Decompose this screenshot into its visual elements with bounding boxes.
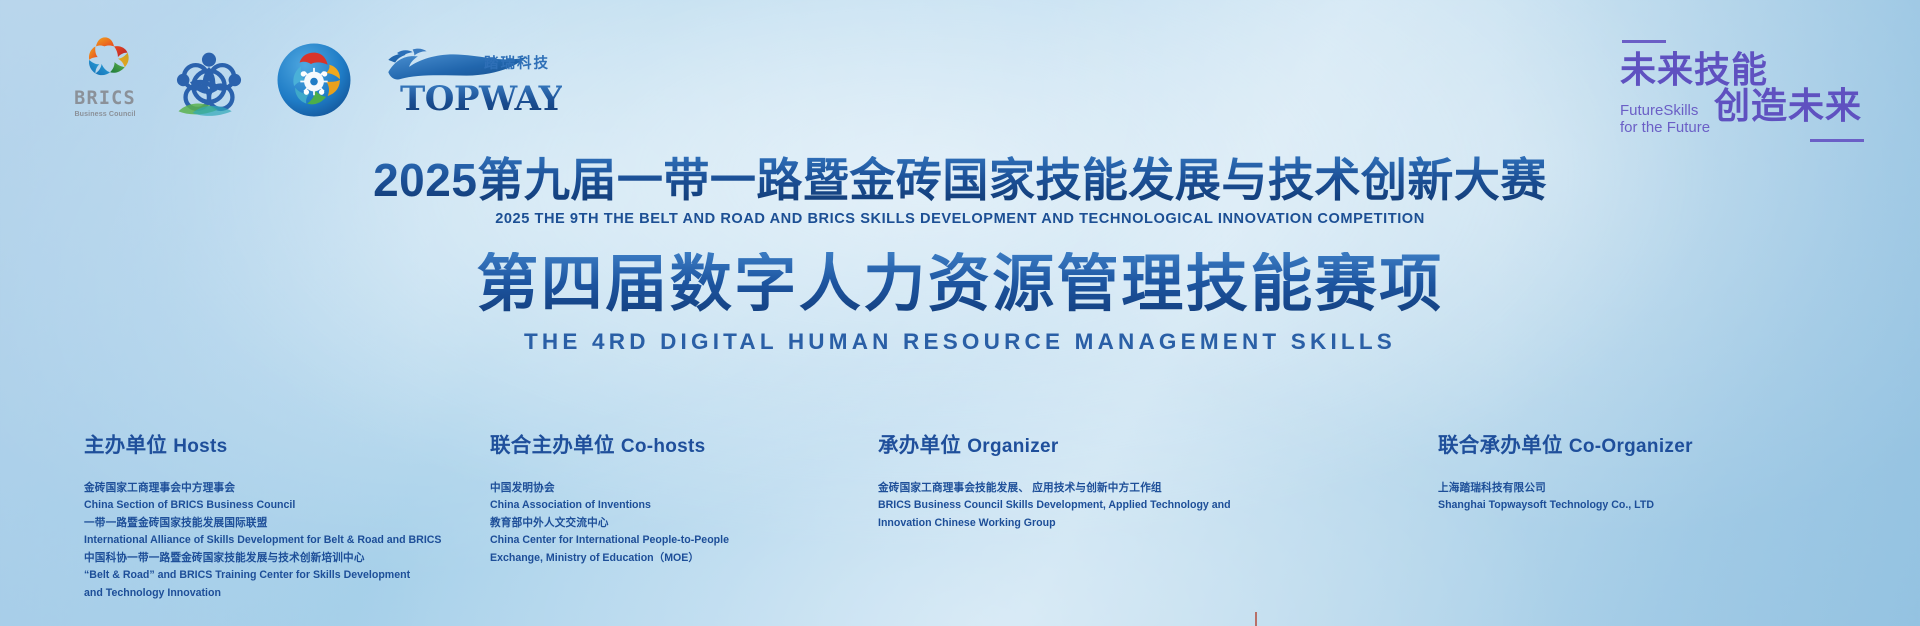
brics-wordmark: BRICS [74,90,136,109]
logo-cast [276,42,352,118]
future-skills-cn-line1: 未来技能 [1620,52,1768,88]
org-line: 金砖国家工商理事会技能发展、 应用技术与创新中方工作组 [878,480,1420,497]
organizer-column-cohosts: 联合主办单位 Co-hosts 中国发明协会 China Association… [490,428,878,602]
org-line: 上海踏瑞科技有限公司 [1438,480,1840,497]
heading-en: Hosts [173,436,227,457]
bottom-tick-mark [1255,612,1257,626]
topway-wordmark: TOPWAY [400,82,562,116]
organizer-columns: 主办单位 Hosts 金砖国家工商理事会中方理事会 China Section … [0,428,1920,602]
logo-brics-business-council: BRICS Business Council [68,34,142,118]
column-heading: 承办单位 Organizer [878,428,1420,458]
heading-cn: 主办单位 [84,434,167,457]
column-heading: 主办单位 Hosts [84,428,472,458]
organizer-column-coorganizer: 联合承办单位 Co-Organizer 上海踏瑞科技有限公司 Shanghai … [1438,428,1858,602]
column-heading: 联合主办单位 Co-hosts [490,428,860,458]
competition-headline: 2025第九届一带一路暨金砖国家技能发展与技术创新大赛 2025 THE 9TH… [0,156,1920,227]
poster-canvas: BRICS Business Council [0,0,1920,626]
subtitle-en: THE 4RD DIGITAL HUMAN RESOURCE MANAGEMEN… [0,329,1920,355]
org-line: International Alliance of Skills Develop… [84,532,472,549]
organizer-column-hosts: 主办单位 Hosts 金砖国家工商理事会中方理事会 China Section … [0,428,490,602]
future-skills-cn-line2: 创造未来 [1714,88,1862,124]
logo-topway: 踏瑞科技 TOPWAY [382,48,550,118]
org-line: 中国科协一带一路暨金砖国家技能发展与技术创新培训中心 [84,550,472,567]
competition-subtitle: 第四届数字人力资源管理技能赛项 THE 4RD DIGITAL HUMAN RE… [0,252,1920,355]
heading-en: Co-hosts [621,436,706,457]
heading-cn: 联合主办单位 [490,434,615,457]
org-line: 中国发明协会 [490,480,860,497]
org-line: China Association of Inventions [490,497,860,514]
skills-alliance-flower-icon [166,42,252,118]
future-skills-en-line2: for the Future [1620,119,1710,136]
heading-cn: 联合承办单位 [1438,434,1563,457]
org-line: Shanghai Topwaysoft Technology Co., LTD [1438,497,1840,514]
subtitle-cn: 第四届数字人力资源管理技能赛项 [0,252,1920,319]
org-line: Exchange, Ministry of Education（MOE） [490,550,860,567]
heading-en: Organizer [967,436,1058,457]
org-line: 金砖国家工商理事会中方理事会 [84,480,472,497]
future-skills-en-line1: FutureSkills [1620,102,1710,119]
org-line: and Technology Innovation [84,585,472,602]
partner-logo-row: BRICS Business Council [68,34,550,118]
topway-cn-label: 踏瑞科技 [484,52,550,73]
heading-cn: 承办单位 [878,434,961,457]
org-line: China Section of BRICS Business Council [84,497,472,514]
future-skills-en: FutureSkills for the Future [1620,102,1710,137]
brics-star-icon [76,34,134,88]
brics-subtext: Business Council [74,111,135,118]
rule-top [1622,40,1666,43]
headline-en: 2025 THE 9TH THE BELT AND ROAD AND BRICS… [0,211,1920,227]
org-line: China Center for International People-to… [490,532,860,549]
column-heading: 联合承办单位 Co-Organizer [1438,428,1840,458]
org-line: BRICS Business Council Skills Developmen… [878,497,1420,514]
heading-en: Co-Organizer [1569,436,1693,457]
organizer-column-organizer: 承办单位 Organizer 金砖国家工商理事会技能发展、 应用技术与创新中方工… [878,428,1438,602]
org-line: Innovation Chinese Working Group [878,515,1420,532]
logo-skills-alliance [166,42,252,118]
headline-cn: 2025第九届一带一路暨金砖国家技能发展与技术创新大赛 [0,156,1920,205]
logo-future-skills: 未来技能 FutureSkills for the Future 创造未来 [1598,30,1868,148]
org-line: 教育部中外人文交流中心 [490,515,860,532]
rule-bottom [1810,139,1864,142]
org-line: “Belt & Road” and BRICS Training Center … [84,567,472,584]
org-line: 一带一路暨金砖国家技能发展国际联盟 [84,515,472,532]
cast-star-gear-icon [276,42,352,118]
